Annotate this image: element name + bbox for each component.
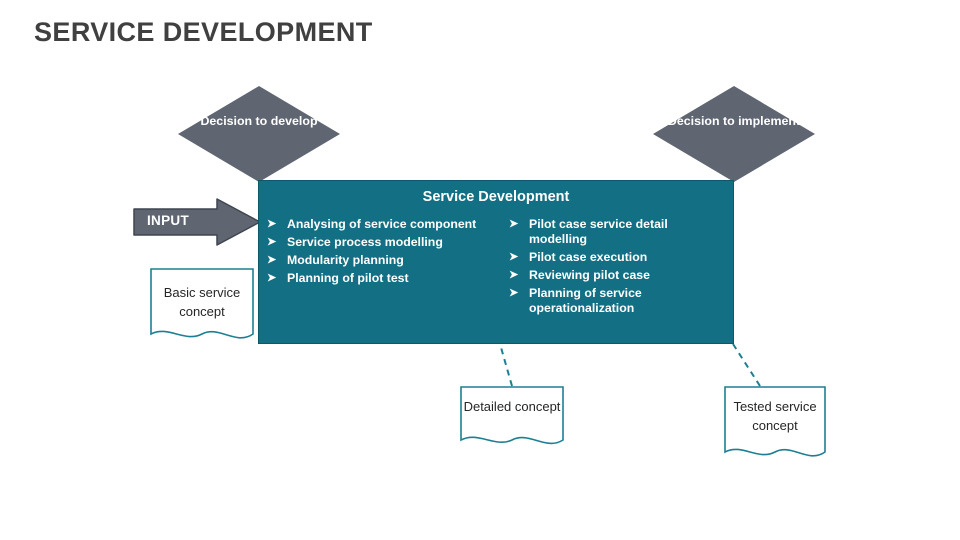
list-item-label: Analysing of service component bbox=[287, 217, 492, 232]
decision-to-develop-label: Decision to develop bbox=[178, 114, 340, 129]
arrow-bullet-icon: ➤ bbox=[509, 286, 529, 301]
list-item-label: Planning of service operationalization bbox=[529, 286, 724, 316]
service-development-heading: Service Development bbox=[259, 189, 733, 205]
arrow-bullet-icon: ➤ bbox=[509, 250, 529, 265]
arrow-bullet-icon: ➤ bbox=[267, 253, 287, 268]
detailed-concept-label: Detailed concept bbox=[460, 397, 564, 416]
arrow-bullet-icon: ➤ bbox=[267, 235, 287, 250]
decision-to-implement-label: Decision to implement bbox=[653, 114, 815, 129]
leader-line-tested bbox=[733, 344, 760, 386]
list-item-label: Modularity planning bbox=[287, 253, 492, 268]
list-item-label: Pilot case service detail modelling bbox=[529, 217, 724, 247]
basic-service-concept-note: Basic service concept bbox=[150, 268, 254, 346]
list-item-label: Pilot case execution bbox=[529, 250, 724, 265]
list-item: ➤ Service process modelling bbox=[267, 235, 492, 250]
list-item: ➤ Planning of pilot test bbox=[267, 271, 492, 286]
list-item: ➤ Planning of service operationalization bbox=[509, 286, 724, 316]
leader-line-detailed bbox=[500, 344, 512, 386]
basic-service-concept-label: Basic service concept bbox=[150, 283, 254, 321]
list-item-label: Service process modelling bbox=[287, 235, 492, 250]
arrow-bullet-icon: ➤ bbox=[267, 271, 287, 286]
document-shape-icon bbox=[460, 386, 564, 451]
decision-to-develop-diamond: Decision to develop bbox=[178, 86, 340, 182]
decision-to-implement-diamond: Decision to implement bbox=[653, 86, 815, 182]
list-item: ➤ Reviewing pilot case bbox=[509, 268, 724, 283]
list-item-label: Reviewing pilot case bbox=[529, 268, 724, 283]
input-arrow: INPUT bbox=[133, 198, 261, 246]
service-development-box: Service Development ➤ Analysing of servi… bbox=[258, 180, 734, 344]
diamond-shape-icon bbox=[178, 86, 340, 182]
diagram-canvas: SERVICE DEVELOPMENT Decision to develop … bbox=[0, 0, 960, 540]
arrow-bullet-icon: ➤ bbox=[509, 268, 529, 283]
left-activity-list: ➤ Analysing of service component ➤ Servi… bbox=[267, 217, 492, 289]
list-item: ➤ Modularity planning bbox=[267, 253, 492, 268]
list-item-label: Planning of pilot test bbox=[287, 271, 492, 286]
arrow-bullet-icon: ➤ bbox=[267, 217, 287, 232]
page-title: SERVICE DEVELOPMENT bbox=[34, 17, 373, 48]
list-item: ➤ Analysing of service component bbox=[267, 217, 492, 232]
arrow-bullet-icon: ➤ bbox=[509, 217, 529, 232]
tested-service-concept-note: Tested service concept bbox=[724, 386, 826, 464]
right-activity-list: ➤ Pilot case service detail modelling ➤ … bbox=[509, 217, 724, 319]
list-item: ➤ Pilot case service detail modelling bbox=[509, 217, 724, 247]
tested-service-concept-label: Tested service concept bbox=[724, 397, 826, 435]
detailed-concept-note: Detailed concept bbox=[460, 386, 564, 451]
list-item: ➤ Pilot case execution bbox=[509, 250, 724, 265]
input-arrow-label: INPUT bbox=[147, 213, 189, 228]
diamond-shape-icon bbox=[653, 86, 815, 182]
